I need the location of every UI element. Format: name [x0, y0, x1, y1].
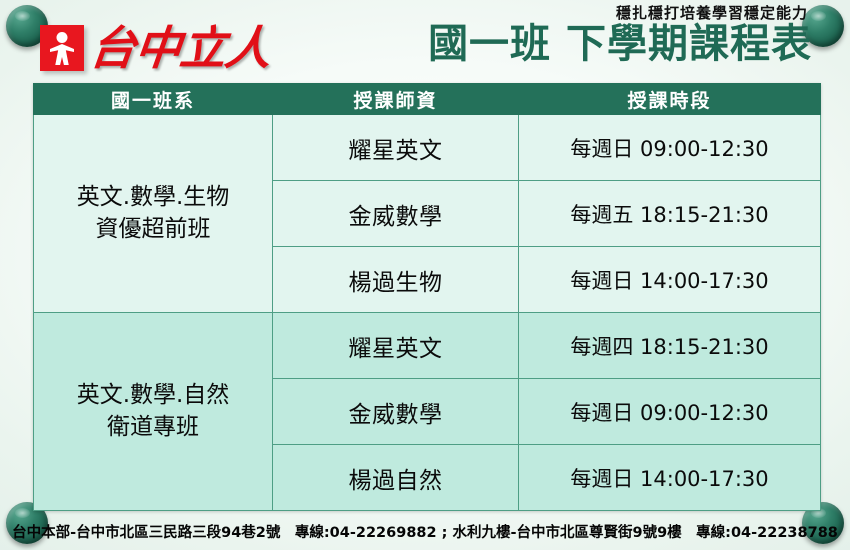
brand-name: 台中立人: [88, 25, 273, 71]
group-name-line-2: 資優超前班: [34, 214, 272, 245]
schedule-table-body: 英文.數學.生物 資優超前班 耀星英文 每週日 09:00-12:30 金威數學…: [34, 115, 821, 511]
time-cell: 每週五 18:15-21:30: [519, 181, 821, 247]
group-name-line-2: 衛道專班: [34, 412, 272, 443]
person-mark-icon: [40, 25, 84, 71]
time-cell: 每週日 09:00-12:30: [519, 115, 821, 181]
schedule-table: 國一班系 授課師資 授課時段 英文.數學.生物 資優超前班 耀星英文 每週日 0…: [33, 83, 821, 511]
column-header-teacher: 授課師資: [273, 84, 519, 115]
contact-footer: 台中本部-台中市北區三民路三段94巷2號 專線:04-22269882 ; 水利…: [0, 521, 850, 542]
page-title: 國一班 下學期課程表: [428, 23, 812, 65]
teacher-cell: 金威數學: [273, 379, 519, 445]
group-name-line-1: 英文.數學.生物: [34, 182, 272, 213]
teacher-cell: 楊過生物: [273, 247, 519, 313]
teacher-cell: 金威數學: [273, 181, 519, 247]
group-name-cell-1: 英文.數學.生物 資優超前班: [34, 115, 273, 313]
column-header-class: 國一班系: [34, 84, 273, 115]
column-header-time: 授課時段: [519, 84, 821, 115]
brand-logo: 台中立人: [40, 20, 270, 76]
tagline: 穩扎穩打培養學習穩定能力: [428, 6, 808, 21]
group-name-line-1: 英文.數學.自然: [34, 380, 272, 411]
table-header-row: 國一班系 授課師資 授課時段: [34, 84, 821, 115]
time-cell: 每週日 14:00-17:30: [519, 445, 821, 511]
person-body-shape: [50, 44, 74, 65]
time-cell: 每週日 14:00-17:30: [519, 247, 821, 313]
table-row: 英文.數學.自然 衛道專班 耀星英文 每週四 18:15-21:30: [34, 313, 821, 379]
group-name-cell-2: 英文.數學.自然 衛道專班: [34, 313, 273, 511]
teacher-cell: 楊過自然: [273, 445, 519, 511]
person-head-shape: [57, 32, 68, 43]
time-cell: 每週日 09:00-12:30: [519, 379, 821, 445]
course-schedule-poster: 台中立人 穩扎穩打培養學習穩定能力 國一班 下學期課程表 國一班系 授課師資 授…: [0, 0, 850, 550]
title-block: 穩扎穩打培養學習穩定能力 國一班 下學期課程表: [428, 6, 812, 65]
teacher-cell: 耀星英文: [273, 313, 519, 379]
time-cell: 每週四 18:15-21:30: [519, 313, 821, 379]
teacher-cell: 耀星英文: [273, 115, 519, 181]
poster-header: 台中立人 穩扎穩打培養學習穩定能力 國一班 下學期課程表: [0, 0, 850, 84]
table-row: 英文.數學.生物 資優超前班 耀星英文 每週日 09:00-12:30: [34, 115, 821, 181]
